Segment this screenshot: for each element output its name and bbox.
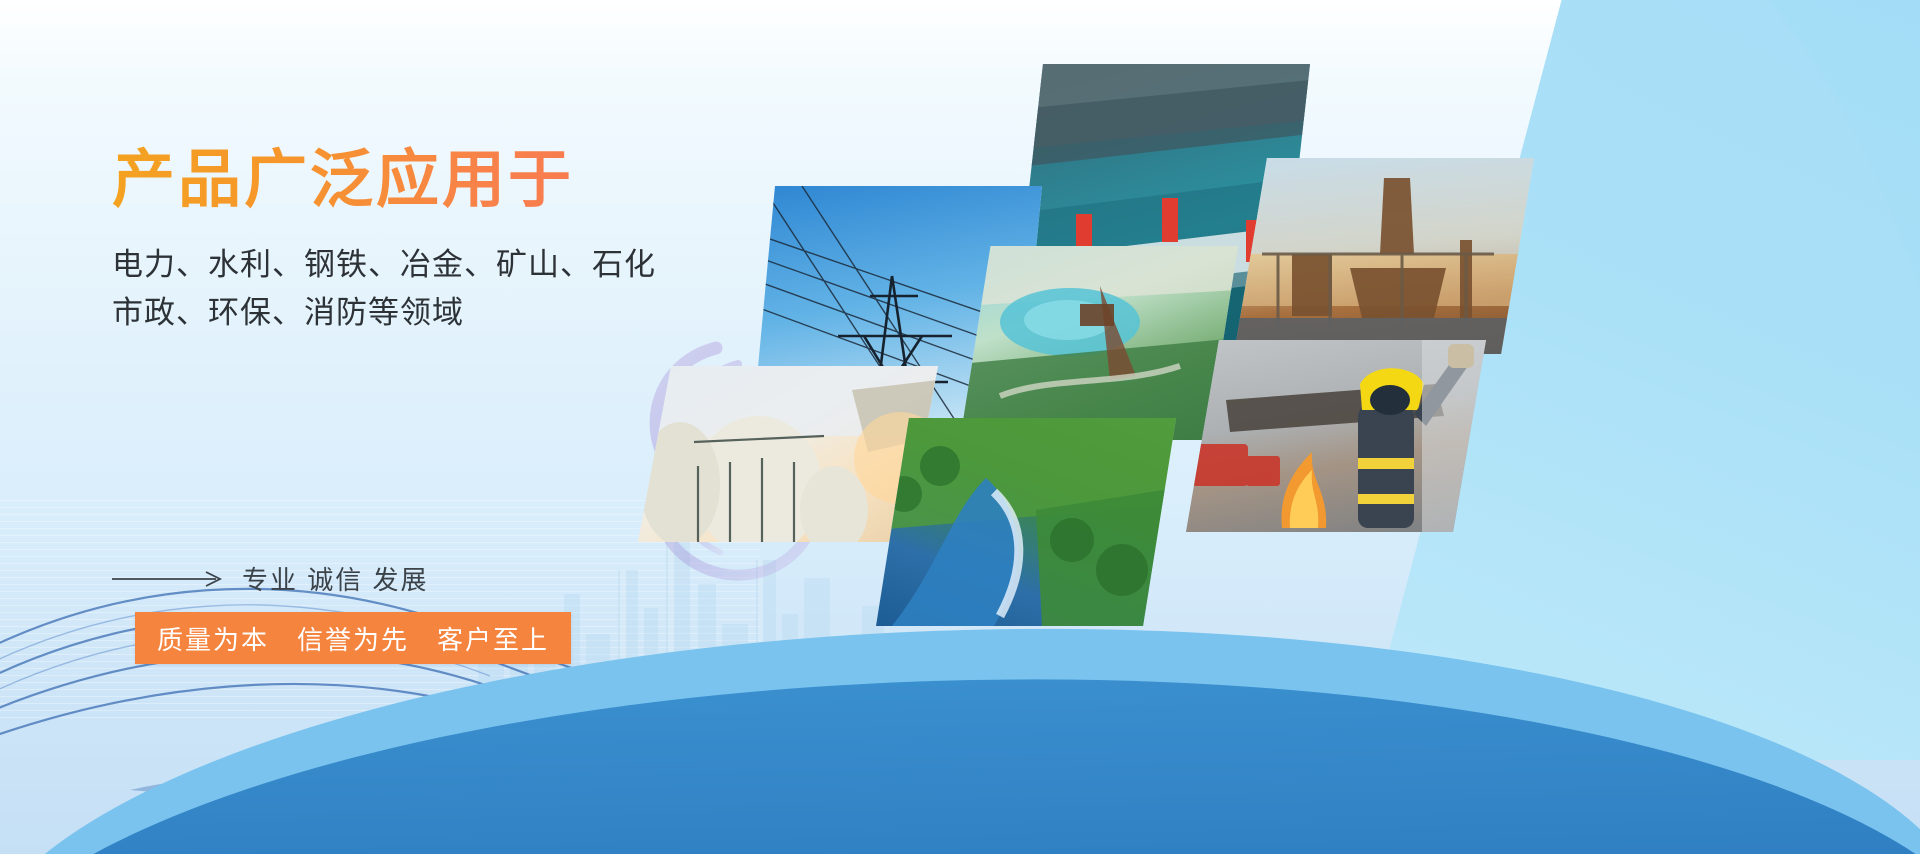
promotional-banner: 产品广泛应用于 电力、水利、钢铁、冶金、矿山、石化 市政、环保、消防等领域 专业… [0,0,1920,854]
page-title: 产品广泛应用于 [112,146,752,215]
subtitle-block: 电力、水利、钢铁、冶金、矿山、石化 市政、环保、消防等领域 [112,241,752,337]
firefighter-training-photo [1186,340,1486,532]
slogan-row: 专业 诚信 发展 [112,560,428,597]
arrow-right-icon [112,569,228,589]
oil-storage-tanks-photo [638,366,938,542]
steel-plant-blast-furnace-photo [1234,158,1534,354]
slogan-text: 专业 诚信 发展 [242,560,428,597]
quality-ribbon-banner: 质量为本 信誉为先 客户至上 [135,612,571,664]
application-photo-collage [0,0,1920,854]
headline-block: 产品广泛应用于 电力、水利、钢铁、冶金、矿山、石化 市政、环保、消防等领域 [112,146,752,337]
river-forest-aerial-photo [876,418,1176,626]
subtitle-line-2: 市政、环保、消防等领域 [112,289,752,337]
subtitle-line-1: 电力、水利、钢铁、冶金、矿山、石化 [112,241,752,289]
municipal-park-aerial-photo [960,246,1238,440]
